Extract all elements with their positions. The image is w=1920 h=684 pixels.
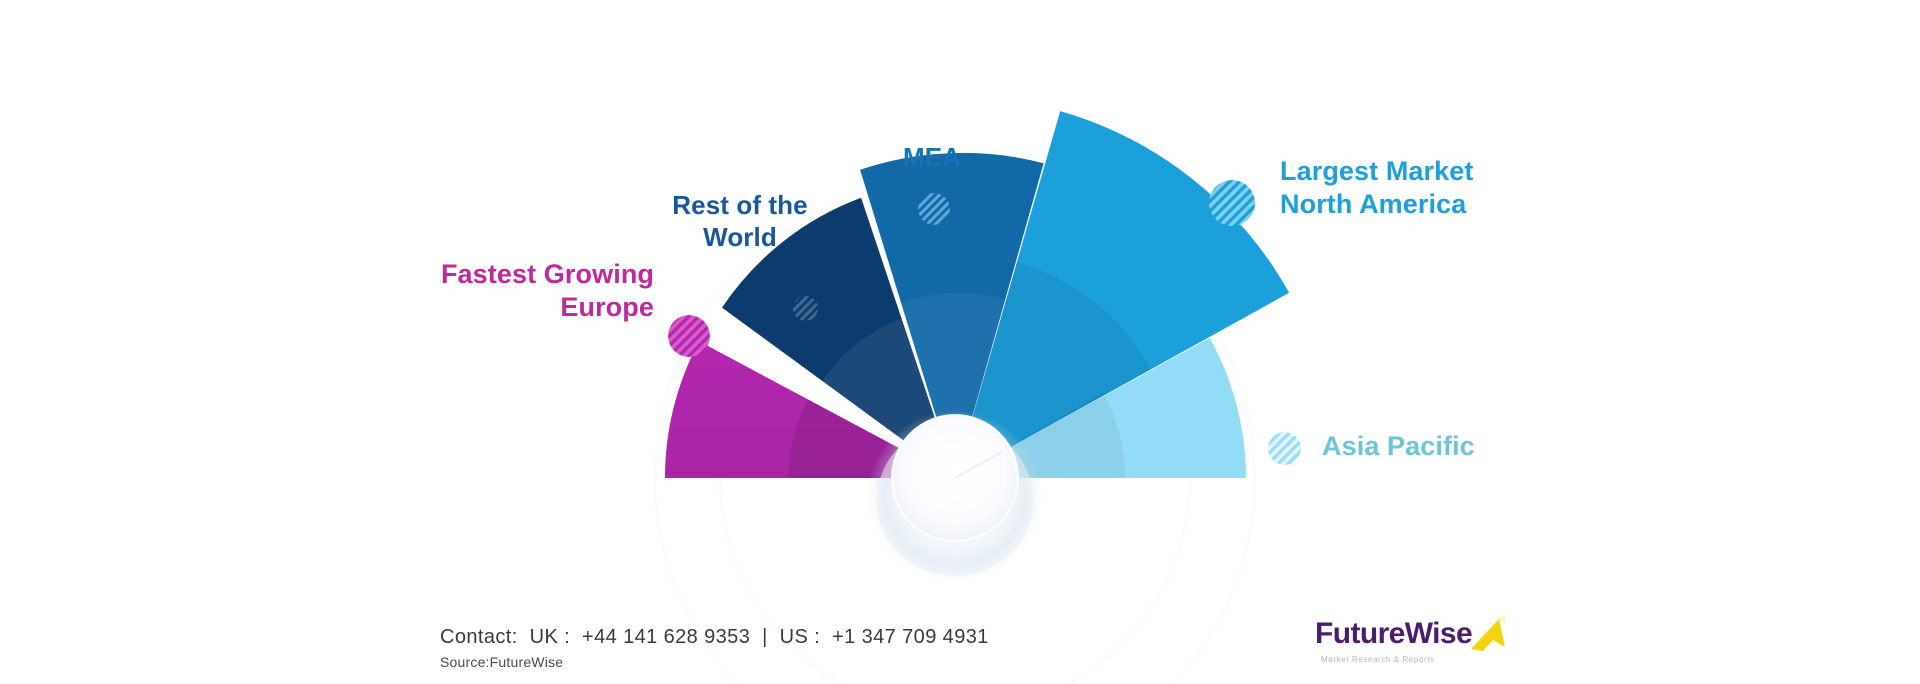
- label-rest-of-world-line2: World: [703, 222, 777, 252]
- label-mea-line1: MEA: [903, 142, 961, 172]
- label-north-america-line2: North America: [1280, 189, 1466, 219]
- asia-pacific-striped-marker: [1268, 432, 1301, 465]
- label-north-america: Largest MarketNorth America: [1280, 155, 1540, 221]
- futurewise-logo[interactable]: FutureWise Market Research & Reports: [1315, 615, 1505, 677]
- cursor-arrow-icon: [1465, 615, 1511, 655]
- label-europe-line1: Fastest Growing: [441, 259, 654, 289]
- chart-hub: [867, 410, 1043, 582]
- mea-striped-marker: [918, 193, 950, 225]
- north-america-striped-marker: [1209, 180, 1255, 226]
- label-mea: MEA: [852, 142, 1012, 174]
- label-asia-pacific: Asia Pacific: [1322, 430, 1552, 463]
- footer: Contact: UK : +44 141 628 9353 | US : +1…: [440, 626, 1340, 670]
- regional-share-fan-chart: [0, 0, 1920, 684]
- label-asia-pacific-line1: Asia Pacific: [1322, 431, 1475, 461]
- label-north-america-line1: Largest Market: [1280, 156, 1473, 186]
- label-rest-of-world-line1: Rest of the: [672, 190, 807, 220]
- label-rest-of-world: Rest of theWorld: [640, 190, 840, 253]
- source-line: Source:FutureWise: [440, 654, 1340, 670]
- logo-tagline: Market Research & Reports: [1321, 655, 1435, 664]
- europe-striped-marker: [668, 315, 710, 357]
- contact-line: Contact: UK : +44 141 628 9353 | US : +1…: [440, 626, 1340, 649]
- logo-brand-text: FutureWise: [1315, 617, 1472, 651]
- rest-of-world-striped-marker: [793, 296, 818, 321]
- label-europe: Fastest GrowingEurope: [418, 258, 654, 324]
- label-europe-line2: Europe: [560, 292, 654, 322]
- infographic-canvas: Fastest GrowingEurope Rest of theWorld M…: [0, 0, 1920, 684]
